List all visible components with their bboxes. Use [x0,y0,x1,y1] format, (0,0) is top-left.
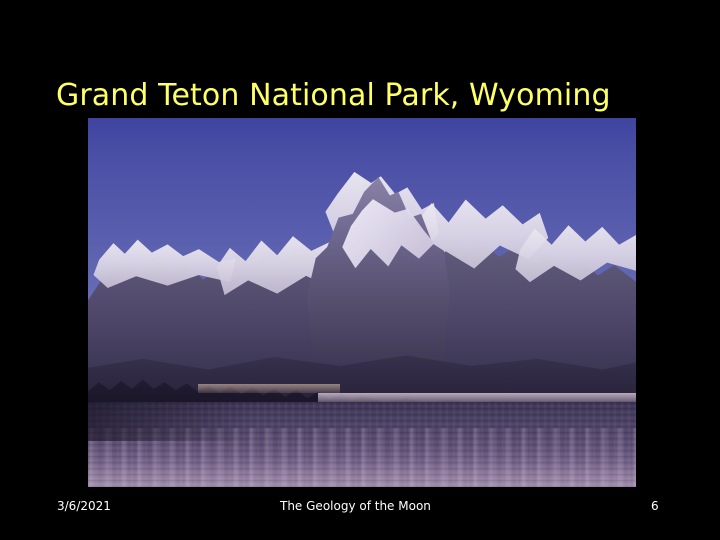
lake-shadow-left [88,402,252,441]
page-title: Grand Teton National Park, Wyoming [56,76,668,116]
footer-presentation-title: The Geology of the Moon [280,498,431,514]
grand-teton-photo [88,118,636,487]
footer-page-number: 6 [651,498,659,514]
footer-date: 3/6/2021 [57,498,111,514]
lake-water [88,402,636,487]
slide: Grand Teton National Park, Wyoming 3/6/2… [0,0,720,540]
